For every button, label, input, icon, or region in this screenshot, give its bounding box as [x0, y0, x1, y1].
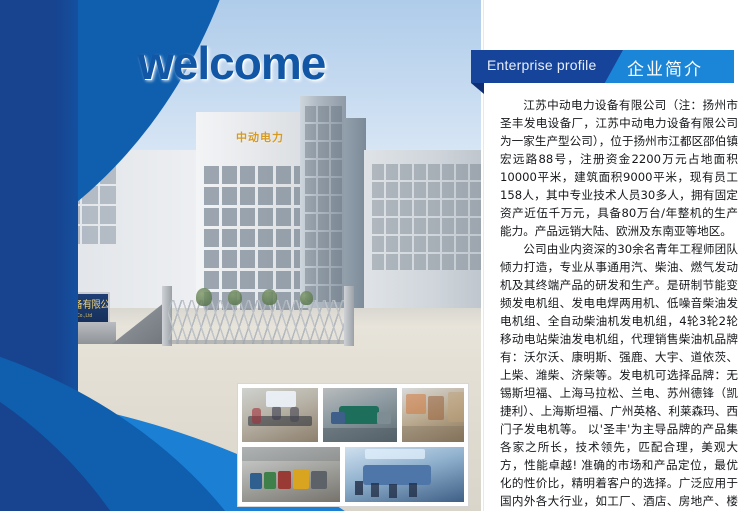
- building-right-wing: [364, 150, 482, 308]
- shrub-2: [228, 290, 242, 305]
- building-tower: [300, 96, 346, 308]
- profile-header-en-label: Enterprise profile: [487, 57, 596, 73]
- profile-panel: 企业简介 Enterprise profile 江苏中动电力设备有限公司（注：扬…: [483, 0, 750, 511]
- profile-panel-inner: 企业简介 Enterprise profile 江苏中动电力设备有限公司（注：扬…: [483, 0, 750, 511]
- building-tower-secondary: [344, 118, 366, 308]
- shrub-1: [196, 288, 212, 306]
- profile-header-en-tab: Enterprise profile: [471, 50, 623, 83]
- shrub-3: [262, 289, 277, 305]
- page-title: welcome: [138, 36, 325, 90]
- collage-row-top: [241, 387, 465, 443]
- retractable-gate: [168, 300, 348, 344]
- window-grid-main: [204, 166, 309, 310]
- profile-header-cn-tab: 企业简介: [605, 50, 734, 83]
- gate-pillar-right: [344, 286, 354, 346]
- photo-collage: [238, 384, 468, 506]
- photo-generator-line: [241, 446, 341, 503]
- photo-generator-shop: [322, 387, 398, 443]
- shrub-4: [300, 291, 313, 305]
- photo-office-meeting: [241, 387, 319, 443]
- window-grid-right: [372, 164, 482, 270]
- profile-paragraph-1: 江苏中动电力设备有限公司（注：扬州市圣丰发电设备厂，江苏中动电力设备有限公司为一…: [500, 96, 738, 240]
- window-grid-tower: [305, 106, 342, 302]
- photo-conference-room: [344, 446, 465, 503]
- profile-header-cn-label: 企业简介: [627, 55, 703, 80]
- rooftop-company-sign: 中动电力: [236, 129, 284, 145]
- profile-body: 江苏中动电力设备有限公司（注：扬州市圣丰发电设备厂，江苏中动电力设备有限公司为一…: [500, 96, 738, 511]
- profile-paragraph-2: 公司由业内资深的30余名青年工程师团队倾力打造，专业从事通用汽、柴油、燃气发动机…: [500, 240, 738, 511]
- company-profile-banner: 中动电力 江苏中动电力设备有限公司 Zhongdong Power Equipm…: [0, 0, 750, 511]
- photo-showroom: [401, 387, 465, 443]
- collage-row-bottom: [241, 446, 465, 503]
- profile-header-banner: 企业简介 Enterprise profile: [471, 50, 734, 83]
